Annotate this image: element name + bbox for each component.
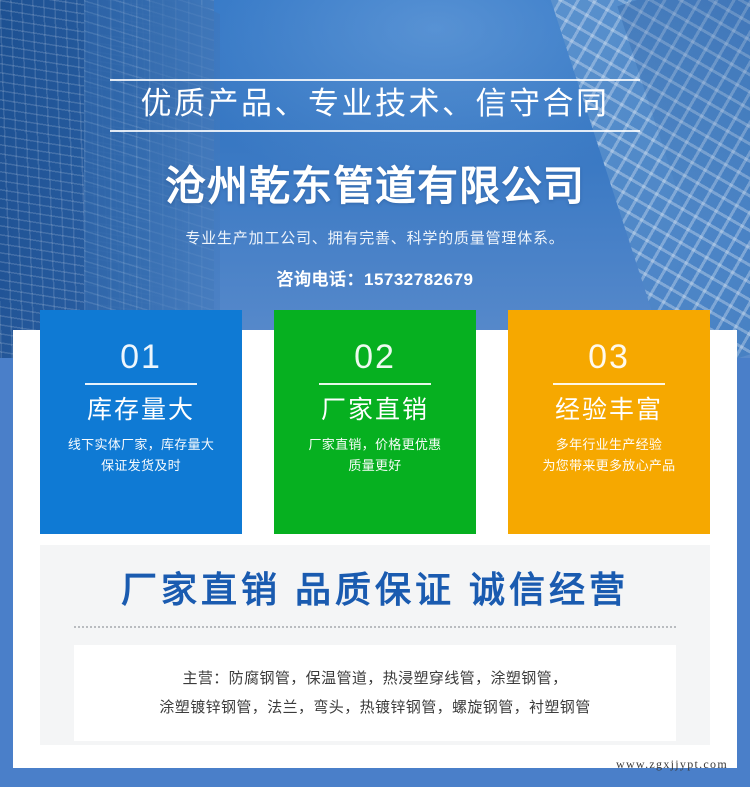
card-number: 03 (588, 340, 630, 374)
product-list-box: 主营：防腐钢管，保温管道，热浸塑穿线管，涂塑钢管， 涂塑镀锌钢管，法兰，弯头，热… (74, 645, 676, 741)
slogan-rule-box: 优质产品、专业技术、信守合同 (110, 79, 640, 132)
site-watermark: www.zgxjjypt.com (616, 757, 728, 772)
card-description-line-2: 质量更好 (308, 455, 441, 476)
bottom-panel: 厂家直销 品质保证 诚信经营 主营：防腐钢管，保温管道，热浸塑穿线管，涂塑钢管，… (40, 545, 710, 745)
feature-card-03: 03 经验丰富 多年行业生产经验 为您带来更多放心产品 (508, 310, 710, 534)
hero-slogan: 优质产品、专业技术、信守合同 (110, 88, 640, 121)
hero-subtitle: 专业生产加工公司、拥有完善、科学的质量管理体系。 (185, 227, 564, 248)
card-divider (319, 383, 431, 385)
product-list-line-2: 涂塑镀锌钢管，法兰，弯头，热镀锌钢管，螺旋钢管，衬塑钢管 (159, 693, 590, 722)
feature-card-02: 02 厂家直销 厂家直销，价格更优惠 质量更好 (274, 310, 476, 534)
feature-cards: 01 库存量大 线下实体厂家，库存量大 保证发货及时 02 厂家直销 厂家直销，… (0, 310, 750, 534)
card-number: 01 (120, 340, 162, 374)
card-divider (553, 383, 665, 385)
card-description: 多年行业生产经验 为您带来更多放心产品 (542, 434, 675, 477)
card-description-line-1: 线下实体厂家，库存量大 (68, 434, 214, 455)
card-title: 经验丰富 (555, 396, 663, 425)
card-title: 厂家直销 (321, 396, 429, 425)
contact-phone: 咨询电话：15732782679 (276, 265, 473, 290)
card-divider (85, 383, 197, 385)
promo-banner: 优质产品、专业技术、信守合同 沧州乾东管道有限公司 专业生产加工公司、拥有完善、… (0, 0, 750, 787)
card-description-line-2: 为您带来更多放心产品 (542, 455, 675, 476)
card-description: 厂家直销，价格更优惠 质量更好 (308, 434, 441, 477)
company-name: 沧州乾东管道有限公司 (165, 152, 585, 212)
card-description-line-1: 多年行业生产经验 (542, 434, 675, 455)
card-number: 02 (354, 340, 396, 374)
card-description-line-2: 保证发货及时 (68, 455, 214, 476)
product-list-line-1: 主营：防腐钢管，保温管道，热浸塑穿线管，涂塑钢管， (182, 664, 567, 693)
card-description-line-1: 厂家直销，价格更优惠 (308, 434, 441, 455)
hero-content: 优质产品、专业技术、信守合同 沧州乾东管道有限公司 专业生产加工公司、拥有完善、… (0, 0, 750, 358)
card-title: 库存量大 (87, 396, 195, 425)
feature-card-01: 01 库存量大 线下实体厂家，库存量大 保证发货及时 (40, 310, 242, 534)
hero-section: 优质产品、专业技术、信守合同 沧州乾东管道有限公司 专业生产加工公司、拥有完善、… (0, 0, 750, 358)
dotted-divider (74, 626, 676, 628)
bottom-headline: 厂家直销 品质保证 诚信经营 (121, 561, 629, 613)
card-description: 线下实体厂家，库存量大 保证发货及时 (68, 434, 214, 477)
